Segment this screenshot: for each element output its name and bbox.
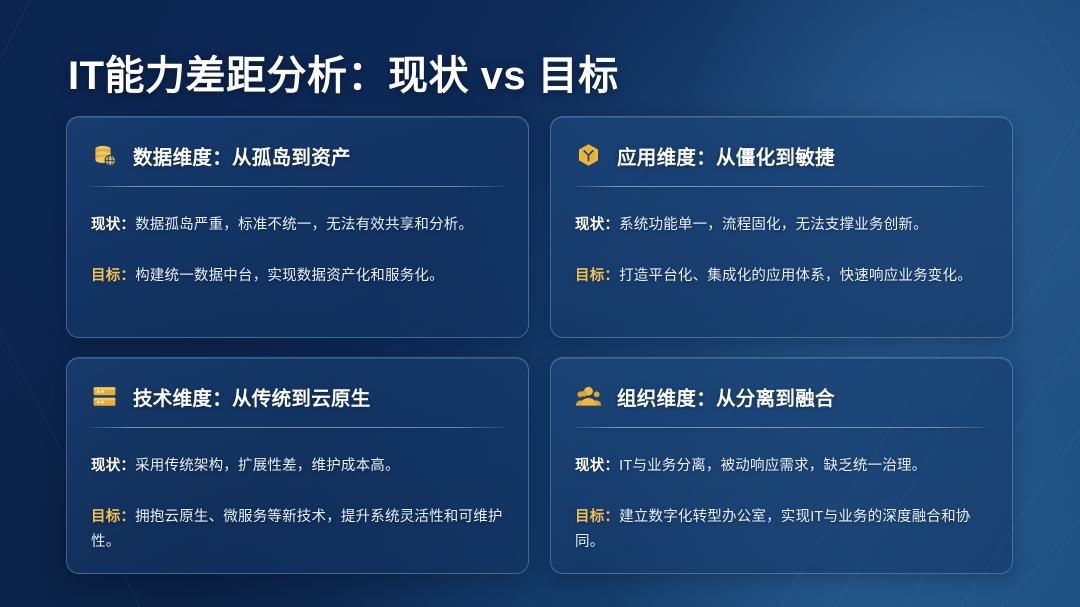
current-label: 现状：	[91, 458, 135, 474]
card-header: 应用维度：从僵化到敏捷	[575, 139, 988, 171]
goal-text: 拥抱云原生、微服务等新技术，提升系统灵活性和可维护性。	[91, 509, 503, 550]
card-body: 现状：采用传统架构，扩展性差，维护成本高。 目标：拥抱云原生、微服务等新技术，提…	[91, 428, 504, 555]
cube-hexagon-icon	[575, 142, 602, 169]
goal-text: 构建统一数据中台，实现数据资产化和服务化。	[135, 268, 444, 284]
card-data-dimension[interactable]: 数据维度：从孤岛到资产 现状：数据孤岛严重，标准不统一，无法有效共享和分析。 目…	[66, 116, 529, 338]
current-state-row: 现状：系统功能单一，流程固化，无法支撑业务创新。	[575, 213, 988, 238]
card-title: 应用维度：从僵化到敏捷	[617, 141, 835, 170]
goal-label: 目标：	[91, 509, 135, 525]
card-body: 现状：IT与业务分离，被动响应需求，缺乏统一治理。 目标：建立数字化转型办公室，…	[575, 428, 988, 555]
card-body: 现状：系统功能单一，流程固化，无法支撑业务创新。 目标：打造平台化、集成化的应用…	[575, 187, 988, 289]
goal-state-row: 目标：打造平台化、集成化的应用体系，快速响应业务变化。	[575, 264, 988, 289]
goal-text: 打造平台化、集成化的应用体系，快速响应业务变化。	[619, 268, 972, 284]
current-label: 现状：	[575, 458, 619, 474]
slide-canvas: IT能力差距分析：现状 vs 目标	[0, 0, 1080, 607]
goal-state-row: 目标：拥抱云原生、微服务等新技术，提升系统灵活性和可维护性。	[91, 505, 504, 555]
goal-label: 目标：	[575, 268, 619, 284]
card-body: 现状：数据孤岛严重，标准不统一，无法有效共享和分析。 目标：构建统一数据中台，实…	[91, 187, 504, 289]
current-state-row: 现状：数据孤岛严重，标准不统一，无法有效共享和分析。	[91, 213, 504, 238]
goal-state-row: 目标：构建统一数据中台，实现数据资产化和服务化。	[91, 264, 504, 289]
card-application-dimension[interactable]: 应用维度：从僵化到敏捷 现状：系统功能单一，流程固化，无法支撑业务创新。 目标：…	[550, 116, 1013, 338]
goal-label: 目标：	[575, 509, 619, 525]
goal-text: 建立数字化转型办公室，实现IT与业务的深度融合和协同。	[575, 509, 971, 550]
page-title: IT能力差距分析：现状 vs 目标	[68, 43, 619, 101]
card-header: 组织维度：从分离到融合	[575, 380, 988, 412]
dimension-card-grid: 数据维度：从孤岛到资产 现状：数据孤岛严重，标准不统一，无法有效共享和分析。 目…	[66, 116, 1016, 574]
card-title: 技术维度：从传统到云原生	[133, 382, 371, 411]
current-text: 数据孤岛严重，标准不统一，无法有效共享和分析。	[135, 217, 473, 233]
card-header: 数据维度：从孤岛到资产	[91, 139, 504, 171]
goal-label: 目标：	[91, 268, 135, 284]
card-technology-dimension[interactable]: 技术维度：从传统到云原生 现状：采用传统架构，扩展性差，维护成本高。 目标：拥抱…	[66, 357, 529, 574]
card-header: 技术维度：从传统到云原生	[91, 380, 504, 412]
card-title: 组织维度：从分离到融合	[617, 382, 835, 411]
card-organization-dimension[interactable]: 组织维度：从分离到融合 现状：IT与业务分离，被动响应需求，缺乏统一治理。 目标…	[550, 357, 1013, 574]
goal-state-row: 目标：建立数字化转型办公室，实现IT与业务的深度融合和协同。	[575, 505, 988, 555]
card-title: 数据维度：从孤岛到资产	[133, 141, 351, 170]
current-state-row: 现状：IT与业务分离，被动响应需求，缺乏统一治理。	[575, 454, 988, 479]
current-text: 系统功能单一，流程固化，无法支撑业务创新。	[619, 217, 928, 233]
current-label: 现状：	[91, 217, 135, 233]
database-icon	[91, 142, 118, 169]
current-label: 现状：	[575, 217, 619, 233]
current-text: IT与业务分离，被动响应需求，缺乏统一治理。	[619, 458, 926, 474]
current-state-row: 现状：采用传统架构，扩展性差，维护成本高。	[91, 454, 504, 479]
current-text: 采用传统架构，扩展性差，维护成本高。	[135, 458, 400, 474]
users-group-icon	[575, 383, 602, 410]
server-rack-icon	[91, 383, 118, 410]
